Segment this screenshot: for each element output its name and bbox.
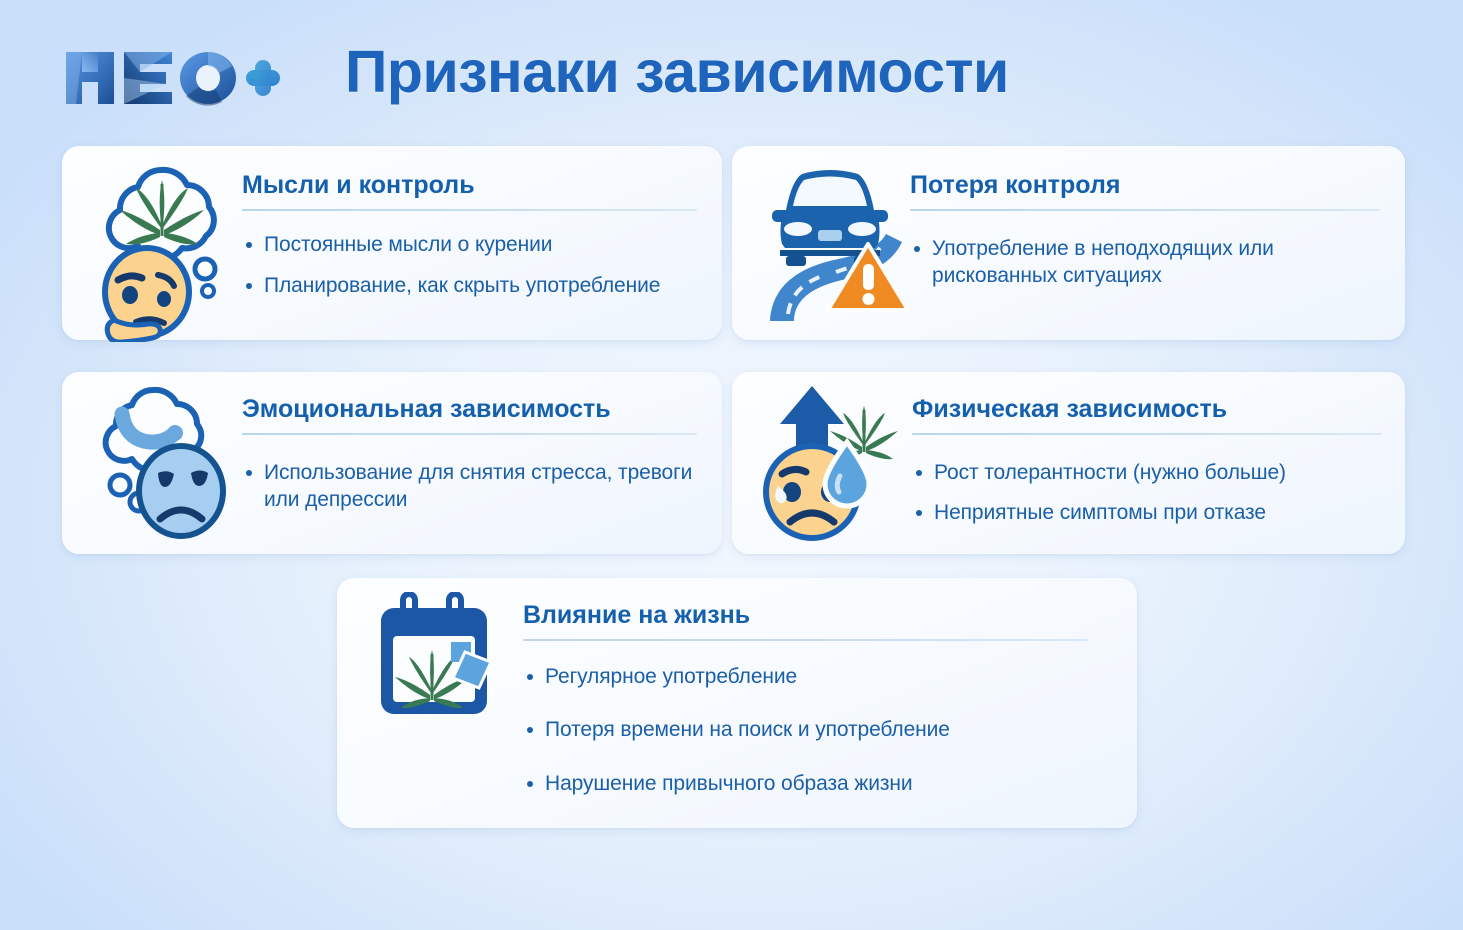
card-title: Влияние на жизнь xyxy=(523,602,1088,630)
list-item: Потеря времени на поиск и употребление xyxy=(523,716,1088,744)
card-thoughts-and-control: Мысли и контроль Постоянные мысли о куре… xyxy=(62,146,722,340)
list-item: Постоянные мысли о курении xyxy=(242,231,697,259)
title-divider xyxy=(242,209,697,211)
car-road-warning-triangle-icon xyxy=(750,156,910,326)
card-emotional-dependence: Эмоциональная зависимость Использование … xyxy=(62,372,722,554)
card-body: Эмоциональная зависимость Использование … xyxy=(242,396,697,522)
list-item: Использование для снятия стресса, тревог… xyxy=(242,459,697,514)
up-arrow-cannabis-sweating-face-icon xyxy=(756,380,911,545)
list-item: Рост толерантности (нужно больше) xyxy=(912,459,1382,487)
bullet-list: Использование для снятия стресса, тревог… xyxy=(242,459,697,514)
card-title: Мысли и контроль xyxy=(242,172,697,200)
card-body: Потеря контроля Употребление в неподходя… xyxy=(910,172,1380,298)
bullet-list: Регулярное употребление Потеря времени н… xyxy=(523,663,1088,798)
card-physical-dependence: Физическая зависимость Рост толерантност… xyxy=(732,372,1405,554)
list-item: Неприятные симптомы при отказе xyxy=(912,499,1382,527)
list-item: Употребление в неподходящих или рискован… xyxy=(910,235,1380,290)
card-impact-on-life: Влияние на жизнь Регулярное употребление… xyxy=(337,578,1137,828)
list-item: Регулярное употребление xyxy=(523,663,1088,691)
title-divider xyxy=(912,433,1382,435)
card-title: Потеря контроля xyxy=(910,172,1380,200)
card-body: Физическая зависимость Рост толерантност… xyxy=(912,396,1382,540)
card-body: Влияние на жизнь Регулярное употребление… xyxy=(523,602,1088,824)
calendar-cannabis-icon xyxy=(373,592,518,722)
header: Признаки зависимости xyxy=(0,0,1463,140)
thought-bubble-sad-blue-face-icon xyxy=(92,384,242,542)
card-body: Мысли и контроль Постоянные мысли о куре… xyxy=(242,172,697,314)
list-item: Планирование, как скрыть употребление xyxy=(242,272,697,300)
title-divider xyxy=(910,209,1380,211)
list-item: Нарушение привычного образа жизни xyxy=(523,770,1088,798)
neo-plus-logo xyxy=(62,46,282,108)
title-divider xyxy=(242,433,697,435)
page-title: Признаки зависимости xyxy=(345,38,1009,106)
bullet-list: Рост толерантности (нужно больше) Неприя… xyxy=(912,459,1382,527)
card-title: Физическая зависимость xyxy=(912,396,1382,424)
card-title: Эмоциональная зависимость xyxy=(242,396,697,424)
title-divider xyxy=(523,639,1088,641)
bullet-list: Постоянные мысли о курении Планирование,… xyxy=(242,231,697,300)
card-loss-of-control: Потеря контроля Употребление в неподходя… xyxy=(732,146,1405,340)
infographic-root: Признаки зависимости xyxy=(0,0,1463,930)
thought-bubble-cannabis-thinking-face-icon xyxy=(84,160,244,342)
bullet-list: Употребление в неподходящих или рискован… xyxy=(910,235,1380,290)
